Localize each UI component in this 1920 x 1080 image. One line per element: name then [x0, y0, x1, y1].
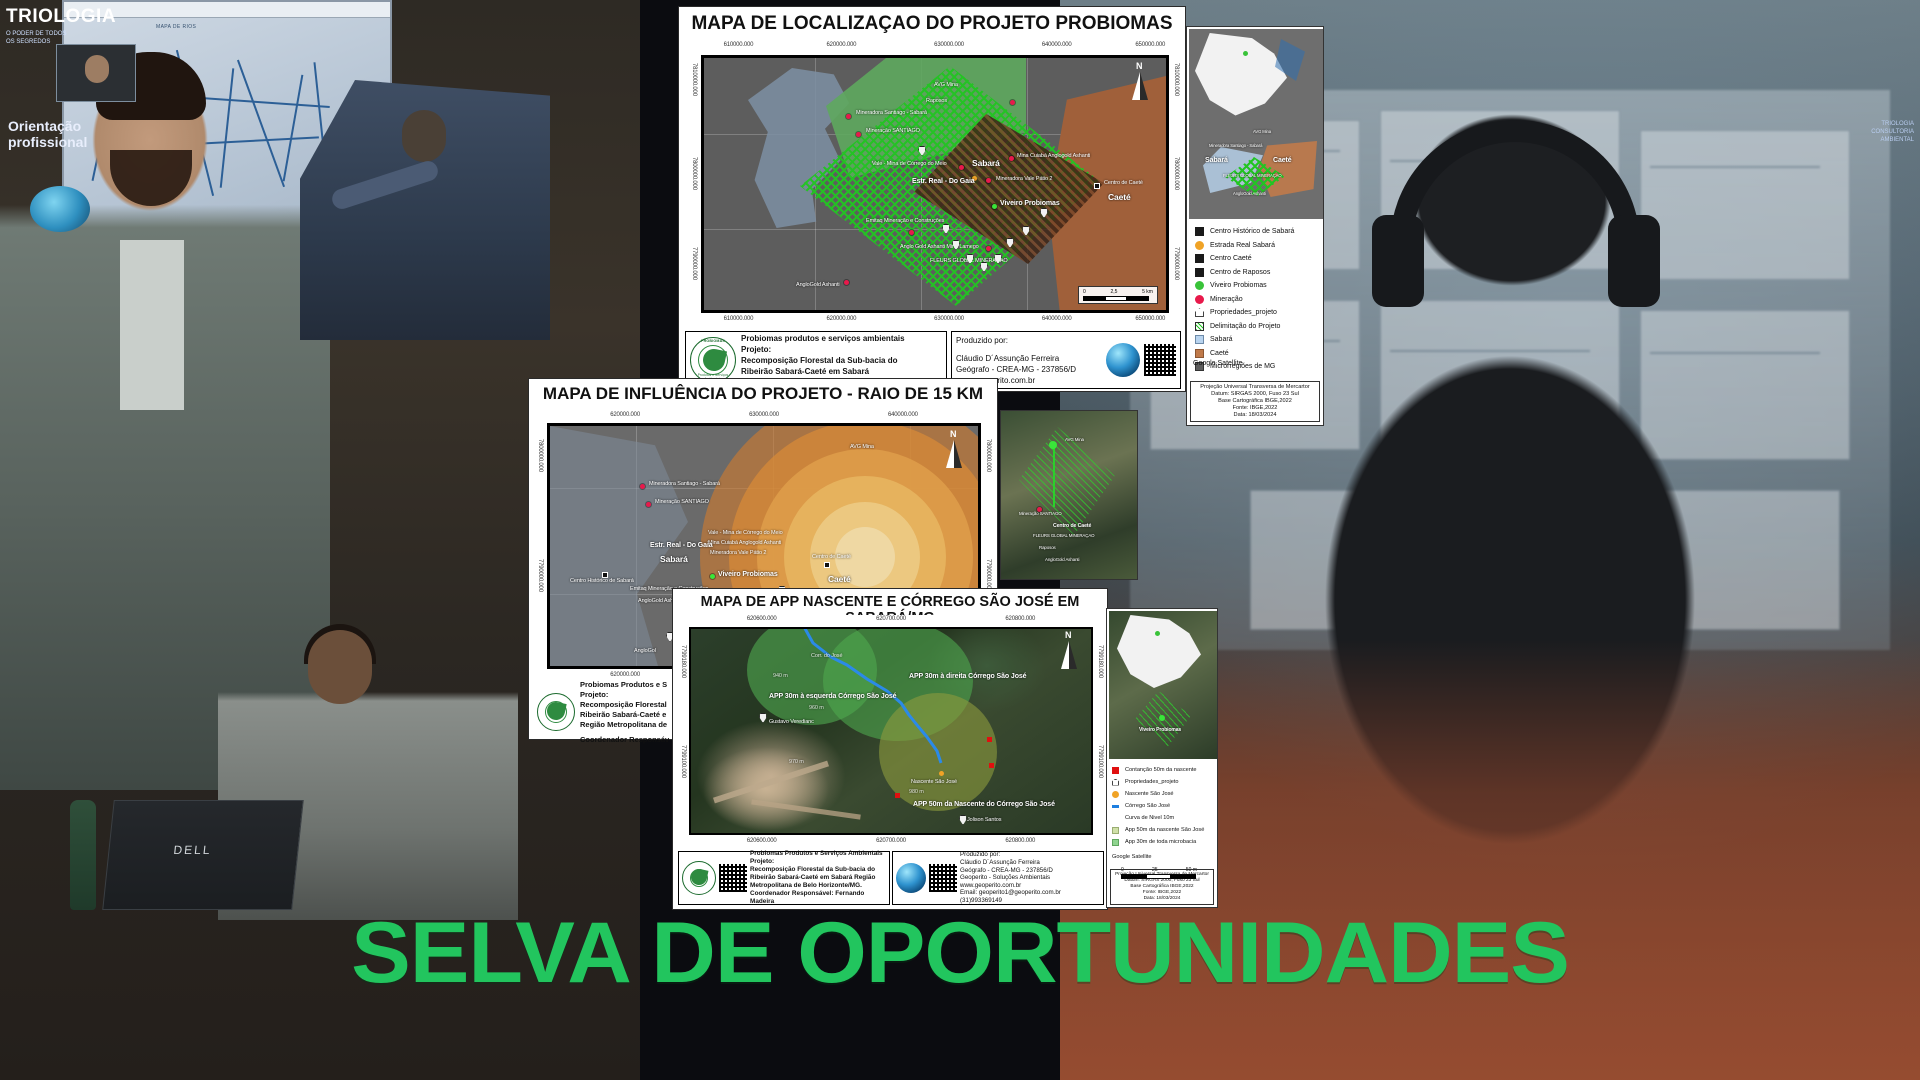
map1-canvas[interactable]: Mineradora Santiago - Sabará Mineração S… — [701, 55, 1169, 313]
legend-swatch-circle — [1195, 241, 1204, 250]
map1-producer-l1: Produzido por: — [956, 335, 1102, 346]
map1-producer-l3: Geógrafo - CREA-MG - 237856/D — [956, 364, 1102, 375]
map1-x-axis-top: 610000.000 620000.000 630000.000 640000.… — [701, 41, 1169, 55]
house-icon — [1112, 779, 1119, 786]
legend1-source: Google Satellite — [1193, 360, 1242, 367]
map1-y-tick-1: 7800000.000 — [691, 157, 697, 190]
legend-swatch-square — [1195, 268, 1204, 277]
map1-label-9: Anglo Gold Ashanti Mina Lamego — [900, 244, 979, 250]
inset-sat-label-4: Raposos — [1039, 545, 1056, 550]
map3-footer-l1: Probiomas Produtos e Serviços Ambientais — [750, 850, 886, 858]
marker-mining[interactable] — [1009, 156, 1014, 161]
map3-producer-l6: Email: geoperito1@geoperito.com.br — [960, 889, 1061, 897]
marker-viveiro[interactable] — [992, 204, 997, 209]
map1-scalebar: 0 2,5 5 km — [1078, 286, 1158, 304]
marker-mining[interactable] — [909, 230, 914, 235]
map1-label-12: Centro de Caeté — [1104, 180, 1143, 186]
inset-label-5: AngloGold Ashanti — [1233, 191, 1266, 196]
map1-footer-l3: Recomposição Florestal da Sub-bacia do — [741, 355, 910, 366]
map1-x-axis-bottom: 610000.000 620000.000 630000.000 640000.… — [701, 315, 1169, 329]
legend-swatch-none — [1112, 815, 1119, 822]
legend-item[interactable]: Propriedades_projeto — [1195, 306, 1319, 320]
inset-sat-label-0: AVG Mina — [1065, 437, 1084, 442]
map2-label-viveiro: Viveiro Probiomas — [718, 571, 778, 578]
triologia-headline: Orientação profissional — [8, 118, 87, 150]
map1-label-1: Mineração SANTIAGO — [866, 128, 920, 134]
inset-map-minas-gerais-2[interactable]: Viveiro Probiomas — [1109, 611, 1217, 759]
map1-label-caete: Caeté — [1108, 192, 1131, 202]
map-panel-localizacao[interactable]: MAPA DE LOCALIZAÇAO DO PROJETO PROBIOMAS… — [678, 6, 1186, 392]
map3-label-app50: APP 50m da Nascente do Córrego São José — [913, 801, 1055, 808]
map3-contour-0: Corr. do José — [811, 653, 842, 659]
map3-contour-980: 980 m — [909, 789, 924, 795]
map1-y-tick-r1: 7800000.000 — [1173, 157, 1179, 190]
triologia-side-note: TRIOLOGIA CONSULTORIA AMBIENTAL — [1871, 120, 1914, 144]
map2-label-3: Vale - Mina de Córrego do Meio — [708, 530, 783, 536]
marker-contencao[interactable] — [989, 763, 994, 768]
map1-label-15: Raposos — [926, 98, 947, 104]
map2-label-estr: Estr. Real - Do Gaia — [650, 542, 713, 549]
map1-producer-l2: Cláudio D´Assunção Ferreira — [956, 353, 1102, 364]
legend-swatch-square — [1195, 227, 1204, 236]
marker-mining[interactable] — [646, 502, 651, 507]
pointing-person-head — [402, 110, 446, 162]
inset-label-avg: AVG Mina — [1253, 129, 1271, 134]
map2-footer-l5: Região Metropolitana de — [580, 720, 669, 730]
legend-swatch-hatch — [1195, 322, 1204, 331]
map2-label-5: Mineradora Vale Pátio 2 — [710, 550, 766, 556]
map1-label-avg: AVG Mina — [934, 82, 958, 88]
inset-map-minas-gerais[interactable]: AVG Mina Mineradora Santiago - Sabará Sa… — [1189, 29, 1323, 219]
map3-footer-l6: Coordenador Responsável: Fernando Madeir… — [750, 890, 886, 906]
headline-text: SELVA DE OPORTUNIDADES — [0, 905, 1920, 1001]
map1-footer-l1: Probiomas produtos e serviços ambientais — [741, 333, 910, 344]
marker-centro-caete[interactable] — [824, 562, 830, 568]
triologia-portrait — [56, 44, 136, 102]
inset-sat-label-5: AngloGold Ashanti — [1045, 557, 1079, 562]
map3-contour-970: 970 m — [789, 759, 804, 765]
collage-canvas: MAPA DE RIOS TRIOLOGIA O PODER DE TODOS … — [0, 0, 1920, 1080]
map2-footer-l4: Ribeirão Sabará-Caeté e — [580, 710, 669, 720]
map3-canvas[interactable]: Corr. do José 940 m 960 m 970 m 980 m AP… — [689, 627, 1093, 835]
map2-label-12: Centro de Caeté — [812, 554, 851, 560]
map1-label-viveiro: Viveiro Probiomas — [1000, 200, 1060, 207]
map3-y-tick-0: 7799180.000 — [680, 645, 686, 678]
globe-icon — [30, 186, 90, 232]
map-panel-app-nascente[interactable]: MAPA DE APP NASCENTE E CÓRREGO SÃO JOSÉ … — [672, 588, 1108, 910]
map3-producer-l2: Cláudio D´Assunção Ferreira — [960, 859, 1061, 867]
legend-swatch-circle — [1195, 281, 1204, 290]
qr-code-icon[interactable] — [929, 864, 957, 892]
legend-panel-localizacao[interactable]: AVG Mina Mineradora Santiago - Sabará Sa… — [1186, 26, 1324, 426]
legend-item[interactable]: Delimitação do Projeto — [1195, 320, 1319, 334]
map1-label-7: Mina Cuiabá Anglogold Ashanti — [1017, 153, 1090, 159]
map1-label-sabara: Sabará — [972, 158, 1000, 168]
legend-item[interactable]: Viveiro Probiomas — [1195, 279, 1319, 293]
map3-label-jolison: Jolison Santos — [967, 817, 1001, 823]
map2-label-avg: AVG Mina — [850, 444, 874, 450]
map2-label-14: AngloGol — [634, 648, 656, 654]
legend-swatch-square — [1112, 839, 1119, 846]
legend-item[interactable]: App 50m da nascente São José — [1112, 824, 1215, 836]
globe-icon — [1106, 343, 1140, 377]
legend1-items: Centro Histórico de Sabará Estrada Real … — [1195, 225, 1319, 374]
map3-footer-l4: Ribeirão Sabará-Caeté em Sabará Região — [750, 874, 886, 882]
inset-sat-label-2: Centro de Caeté — [1053, 523, 1091, 529]
map1-label-8: Emitaq Mineração e Construções — [866, 218, 944, 224]
map3-y-tick-r1: 7799100.000 — [1097, 745, 1103, 778]
legend1-projection-box: Projeção Universal Transversa de Mercart… — [1190, 381, 1320, 422]
marker-mining[interactable] — [844, 280, 849, 285]
map3-producer-l1: Produzido por: — [960, 851, 1061, 859]
map2-label-8: Centro Histórico de Sabará — [570, 578, 634, 584]
laptop-brand-label: DELL — [173, 843, 213, 857]
map2-y-tick-1: 7790000.000 — [537, 559, 543, 592]
inset-sat-label-1: Mineração SANTIAGO — [1019, 511, 1062, 516]
legend-swatch-square — [1195, 335, 1204, 344]
house-icon — [1195, 308, 1204, 317]
map3-y-tick-r0: 7799180.000 — [1097, 645, 1103, 678]
legend-item[interactable]: Centro Histórico de Sabará — [1195, 225, 1319, 239]
marker-mining[interactable] — [856, 132, 861, 137]
map3-contour-940: 940 m — [773, 673, 788, 679]
water-bottle — [70, 800, 96, 910]
map3-producer-l5: www.geoperito.com.br — [960, 882, 1061, 890]
map3-label-app30-right: APP 30m à direita Córrego São José — [909, 673, 1026, 680]
north-arrow-icon: N — [1061, 633, 1077, 669]
legend-item[interactable]: Propriedades_projeto — [1112, 776, 1215, 788]
legend-item[interactable]: Estrada Real Sabará — [1195, 239, 1319, 253]
qr-code-icon[interactable] — [719, 864, 747, 892]
map3-label-app30-left: APP 30m à esquerda Córrego São José — [769, 693, 896, 700]
legend3-items: Contanção 50m da nascente Propriedades_p… — [1112, 764, 1215, 848]
map2-y-tick-r0: 7800000.000 — [985, 439, 991, 472]
probiomas-seal-logo — [537, 693, 575, 731]
map1-y-tick-r2: 7790000.000 — [1173, 247, 1179, 280]
map3-label-nascente: Nascente São José — [911, 779, 957, 785]
map1-footer-l2: Projeto: — [741, 344, 910, 355]
globe-icon — [896, 863, 926, 893]
map1-title: MAPA DE LOCALIZAÇAO DO PROJETO PROBIOMAS — [679, 7, 1185, 40]
inset-sat-label-3: FLEURS GLOBAL MINERAÇAO — [1033, 533, 1094, 538]
marker-centro-caete[interactable] — [1094, 183, 1100, 189]
inset-map-satellite[interactable]: AVG Mina Mineração SANTIAGO Centro de Ca… — [1000, 410, 1138, 580]
map3-x-axis-bottom: 620600.000 620700.000 620800.000 — [689, 837, 1093, 851]
map3-producer-l4: Geoperito - Soluções Ambientais — [960, 874, 1061, 882]
marker-contencao[interactable] — [987, 737, 992, 742]
map2-label-1: Mineradora Santiago - Sabará — [649, 481, 720, 487]
map2-footer-l1: Probiomas Produtos e S — [580, 680, 669, 690]
marker-mining[interactable] — [959, 165, 964, 170]
map1-y-tick-r0: 7810000.000 — [1173, 63, 1179, 96]
north-arrow-icon: N — [946, 432, 962, 468]
legend-swatch-circle — [1112, 791, 1119, 798]
legend-swatch-square — [1112, 827, 1119, 834]
marker-mining[interactable] — [986, 246, 991, 251]
legend-swatch-square — [1195, 349, 1204, 358]
marker-mining[interactable] — [1010, 100, 1015, 105]
legend-item[interactable]: Caeté — [1195, 347, 1319, 361]
legend-panel-app-nascente[interactable]: Viveiro Probiomas Contanção 50m da nasce… — [1106, 608, 1218, 908]
inset-label-sabara: Sabará — [1205, 157, 1228, 164]
map1-label-14: AngloGold Ashanti — [796, 282, 840, 288]
seated-person-head — [308, 630, 372, 704]
legend-item[interactable]: Contanção 50m da nascente — [1112, 764, 1215, 776]
legend-item[interactable]: Sabará — [1195, 333, 1319, 347]
map1-y-tick-0: 7810000.000 — [691, 63, 697, 96]
legend-swatch-circle — [1195, 295, 1204, 304]
marker-mining[interactable] — [846, 114, 851, 119]
map3-footer-l5: Metropolitana de Belo Horizonte/MG. — [750, 882, 886, 890]
map3-y-tick-1: 7799100.000 — [680, 745, 686, 778]
map1-label-estr: Estr. Real - Do Gaia — [912, 178, 975, 185]
map3-producer-l7: (31)993369149 — [960, 897, 1061, 905]
legend3-projection-box: Projeção Universal Transversa de Mercart… — [1110, 869, 1214, 905]
probiomas-seal-logo — [682, 861, 716, 895]
map1-label-0: Mineradora Santiago - Sabará — [856, 110, 927, 116]
map3-footer-l3: Recomposição Florestal da Sub-bacia do — [750, 866, 886, 874]
triologia-title: TRIOLOGIA — [6, 6, 116, 28]
inset-mg2-label: Viveiro Probiomas — [1139, 727, 1181, 733]
map3-producer-l3: Geógrafo - CREA-MG - 237856/D — [960, 867, 1061, 875]
inset-label-1: Mineradora Santiago - Sabará — [1209, 143, 1262, 148]
headphones-cup-left — [1372, 215, 1424, 307]
legend-swatch-square — [1195, 254, 1204, 263]
map2-label-4: Mina Cuiabá Anglogold Ashanti — [708, 540, 781, 546]
marker-mining[interactable] — [986, 178, 991, 183]
headphones-cup-right — [1608, 215, 1660, 307]
laptop: DELL — [102, 800, 304, 910]
legend-item[interactable]: Mineração — [1195, 293, 1319, 307]
map3-footer-l2: Projeto: — [750, 858, 886, 866]
map2-label-sabara: Sabará — [660, 554, 688, 564]
inset-label-caete: Caeté — [1273, 157, 1292, 164]
map2-label-2: Mineração SANTIAGO — [655, 499, 709, 505]
legend3-source: Google Satellite — [1112, 854, 1152, 860]
legend-item[interactable]: Centro de Raposos — [1195, 266, 1319, 280]
map2-title: MAPA DE INFLUÊNCIA DO PROJETO - RAIO DE … — [529, 379, 997, 408]
map1-label-6: Mineradora Vale Pátio 2 — [996, 176, 1052, 182]
map1-footer-l4: Ribeirão Sabará-Caeté em Sabará — [741, 366, 910, 377]
probiomas-seal-logo: PROBIOMAS Produtos e Serviços Ambientais — [690, 337, 736, 383]
legend-item[interactable]: Nascente São José — [1112, 788, 1215, 800]
map1-y-tick-2: 7790000.000 — [691, 247, 697, 280]
marker-nascente[interactable] — [939, 771, 944, 776]
map3-contour-960: 960 m — [809, 705, 824, 711]
qr-code-icon[interactable] — [1144, 344, 1176, 376]
map3-label-gustavo: Gustavo Veredianc — [769, 719, 814, 725]
map2-footer-l2: Projeto: — [580, 690, 669, 700]
marker-viveiro[interactable] — [710, 574, 715, 579]
map2-footer-l3: Recomposição Florestal — [580, 700, 669, 710]
legend-item[interactable]: Centro Caeté — [1195, 252, 1319, 266]
marker-contencao[interactable] — [895, 793, 900, 798]
inset-label-4: FLEURS GLOBAL MINERAÇAO — [1223, 173, 1282, 178]
map2-footer-l6: Coordenador Responsáv — [580, 730, 669, 745]
map2-y-tick-0: 7800000.000 — [537, 439, 543, 472]
map2-label-caete: Caeté — [828, 574, 851, 584]
map1-label-2: Vale - Mina de Córrego do Meio — [872, 161, 947, 167]
map3-footer-left: Probiomas Produtos e Serviços Ambientais… — [678, 851, 890, 905]
map3-footer-right: Produzido por: Cláudio D´Assunção Ferrei… — [892, 851, 1104, 905]
map2-y-tick-r1: 7790000.000 — [985, 559, 991, 592]
marker-mining[interactable] — [640, 484, 645, 489]
legend-item[interactable]: Córrego São José — [1112, 800, 1215, 812]
legend-swatch-square — [1112, 767, 1119, 774]
north-arrow-icon: N — [1132, 64, 1148, 100]
legend-item[interactable]: App 30m de toda microbacia — [1112, 836, 1215, 848]
legend-item[interactable]: Curva de Nivel 10m — [1112, 812, 1215, 824]
legend-swatch-line — [1112, 805, 1119, 808]
